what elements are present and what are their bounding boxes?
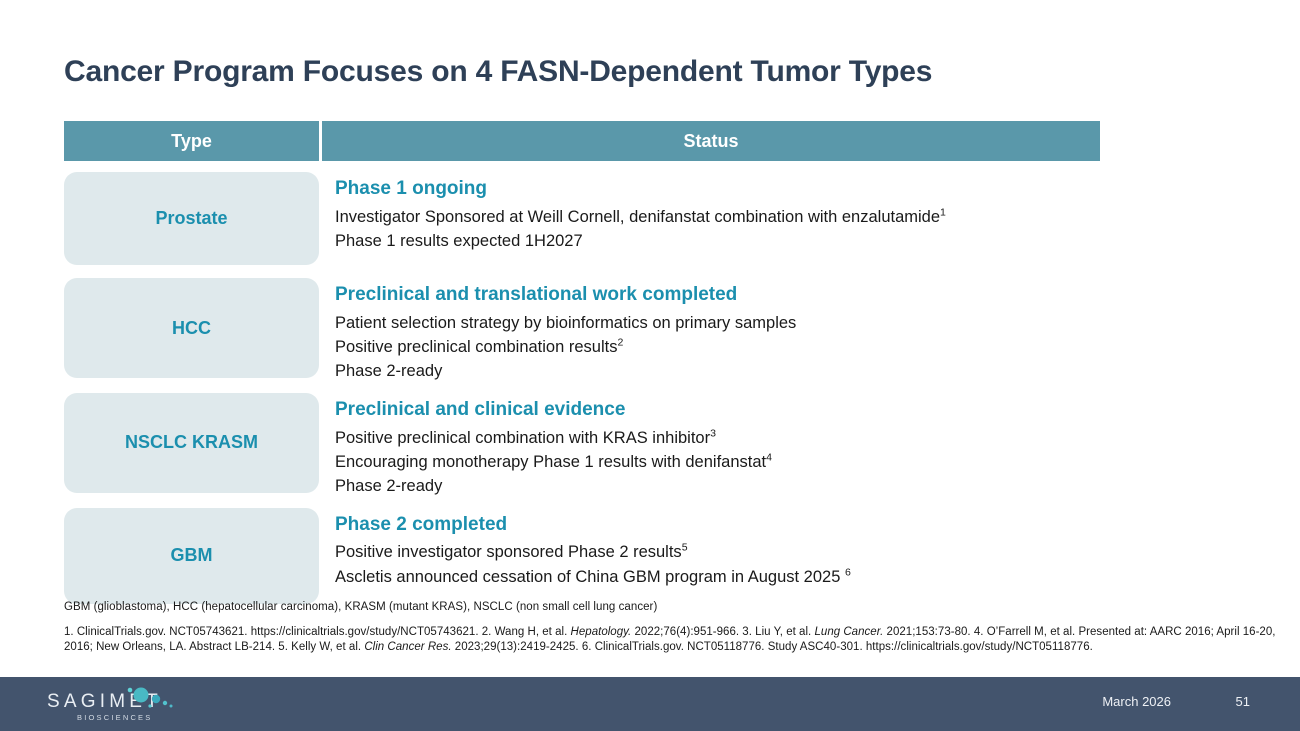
table-header-row: Type Status [64,121,1100,161]
status-line-text: Positive preclinical combination with KR… [335,429,710,447]
status-line: Patient selection strategy by bioinforma… [335,311,1100,335]
table-row: GBM Phase 2 completed Positive investiga… [64,508,1100,604]
footnote-marker: 3 [710,427,716,439]
footnote-marker: 6 [845,566,851,578]
type-cell-nsclc-krasm: NSCLC KRASM [64,393,319,493]
status-heading: Phase 1 ongoing [335,176,1100,202]
sagimet-logo: SAGIMET BIOSCIENCES [47,688,247,724]
footnote-marker: 4 [766,451,772,463]
column-header-type: Type [64,121,319,161]
status-cell-prostate: Phase 1 ongoing Investigator Sponsored a… [319,172,1100,265]
table-row: NSCLC KRASM Preclinical and clinical evi… [64,393,1100,499]
type-cell-hcc: HCC [64,278,319,378]
status-line: Positive investigator sponsored Phase 2 … [335,540,1100,564]
page-title: Cancer Program Focuses on 4 FASN-Depende… [64,55,932,89]
status-line: Positive preclinical combination results… [335,335,1100,359]
status-heading: Phase 2 completed [335,512,1100,538]
status-heading: Preclinical and translational work compl… [335,282,1100,308]
footnote-marker: 1 [940,206,946,218]
status-line-text: Ascletis announced cessation of China GB… [335,568,845,586]
status-line: Phase 2-ready [335,359,1100,383]
table-row: HCC Preclinical and translational work c… [64,278,1100,384]
table-row: Prostate Phase 1 ongoing Investigator Sp… [64,172,1100,265]
tumor-types-table: Type Status Prostate Phase 1 ongoing Inv… [64,121,1100,614]
status-cell-hcc: Preclinical and translational work compl… [319,278,1100,384]
status-line: Positive preclinical combination with KR… [335,426,1100,450]
status-line-text: Phase 2-ready [335,477,442,495]
status-line-text: Encouraging monotherapy Phase 1 results … [335,453,766,471]
status-line: Phase 2-ready [335,474,1100,498]
status-line-text: Investigator Sponsored at Weill Cornell,… [335,208,940,226]
footnote-marker: 2 [617,337,623,349]
references-note: 1. ClinicalTrials.gov. NCT05743621. http… [64,625,1286,654]
status-line-text: Positive preclinical combination results [335,338,617,356]
column-header-status: Status [322,121,1100,161]
status-line: Investigator Sponsored at Weill Cornell,… [335,205,1100,229]
footer-bar: SAGIMET BIOSCIENCES March 2026 51 [0,677,1300,731]
logo-tagline: BIOSCIENCES [77,713,152,722]
footnote-marker: 5 [682,542,688,554]
status-line-text: Phase 2-ready [335,362,442,380]
type-cell-prostate: Prostate [64,172,319,265]
status-heading: Preclinical and clinical evidence [335,397,1100,423]
status-cell-nsclc-krasm: Preclinical and clinical evidence Positi… [319,393,1100,499]
type-cell-gbm: GBM [64,508,319,604]
footer-page-number: 51 [1236,694,1250,709]
status-line: Phase 1 results expected 1H2027 [335,229,1100,253]
status-cell-gbm: Phase 2 completed Positive investigator … [319,508,1100,604]
abbreviations-note: GBM (glioblastoma), HCC (hepatocellular … [64,601,657,613]
status-line-text: Phase 1 results expected 1H2027 [335,232,583,250]
status-line-text: Patient selection strategy by bioinforma… [335,314,796,332]
status-line-text: Positive investigator sponsored Phase 2 … [335,543,682,561]
footer-date: March 2026 [1102,694,1171,709]
logo-dots-icon [123,684,183,714]
status-line: Encouraging monotherapy Phase 1 results … [335,450,1100,474]
status-line: Ascletis announced cessation of China GB… [335,565,1100,589]
table-body: Prostate Phase 1 ongoing Investigator Sp… [64,172,1100,604]
